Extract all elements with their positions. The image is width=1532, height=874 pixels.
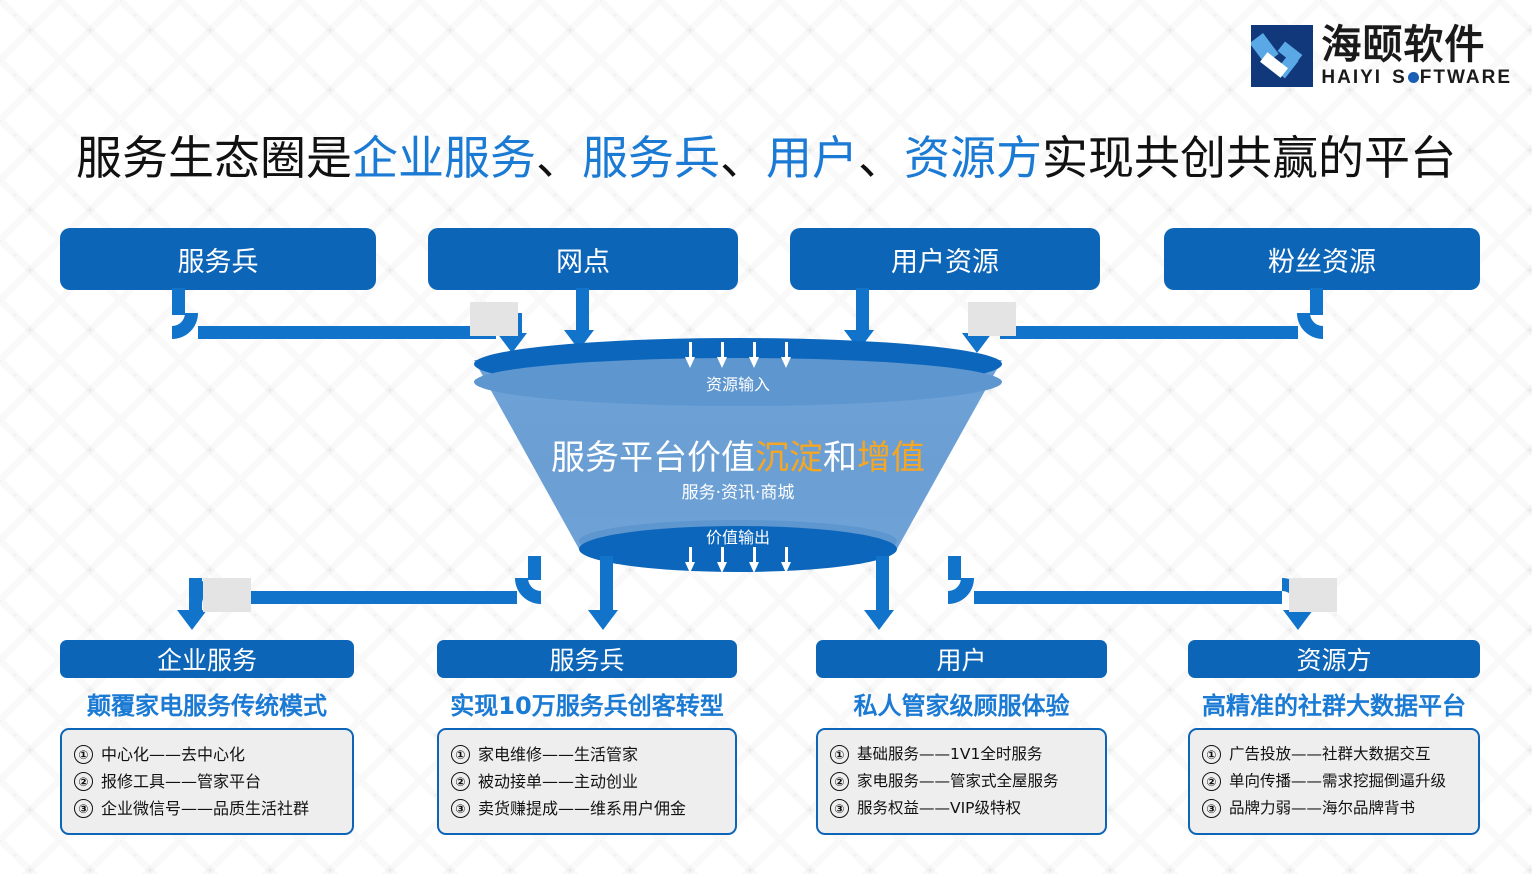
outcome-column-user: 用户 私人管家级顾服体验 ①基础服务——1V1全时服务 ②家电服务——管家式全屋…: [816, 640, 1107, 835]
item-number-icon: ③: [1202, 799, 1221, 818]
connector-tab-icon: [968, 302, 1016, 336]
column-item-list: ①基础服务——1V1全时服务 ②家电服务——管家式全屋服务 ③服务权益——VIP…: [816, 728, 1107, 835]
item-number-icon: ③: [451, 799, 470, 818]
funnel-main-gold-1: 沉淀: [755, 438, 823, 478]
funnel-input-arrows-icon: [474, 342, 1002, 368]
outcome-column-service-soldier: 服务兵 实现10万服务兵创客转型 ①家电维修——生活管家 ②被动接单——主动创业…: [437, 640, 737, 835]
title-highlight-2: 服务兵: [582, 131, 720, 185]
connector-tab-icon: [470, 302, 518, 336]
item-text: 家电服务——管家式全屋服务: [857, 774, 1059, 790]
title-highlight-4: 资源方: [904, 131, 1042, 185]
item-text: 卖货赚提成——维系用户佣金: [478, 801, 686, 817]
item-number-icon: ②: [1202, 772, 1221, 791]
item-number-icon: ①: [74, 745, 93, 764]
column-header-label: 资源方: [1296, 641, 1371, 677]
list-item: ②单向传播——需求挖掘倒逼升级: [1202, 768, 1470, 795]
list-item: ①基础服务——1V1全时服务: [830, 741, 1097, 768]
item-text: 被动接单——主动创业: [478, 774, 638, 790]
item-text: 中心化——去中心化: [101, 747, 245, 763]
title-sep-3: 、: [858, 131, 904, 185]
source-box-outlet[interactable]: 网点: [428, 228, 738, 290]
column-item-list: ①中心化——去中心化 ②报修工具——管家平台 ③企业微信号——品质生活社群: [60, 728, 354, 835]
outcome-column-resource-party: 资源方 高精准的社群大数据平台 ①广告投放——社群大数据交互 ②单向传播——需求…: [1188, 640, 1480, 835]
title-sep-2: 、: [720, 131, 766, 185]
item-text: 品牌力弱——海尔品牌背书: [1229, 801, 1415, 817]
list-item: ①中心化——去中心化: [74, 741, 344, 768]
item-text: 单向传播——需求挖掘倒逼升级: [1229, 774, 1446, 790]
item-text: 基础服务——1V1全时服务: [857, 747, 1042, 763]
source-box-label: 网点: [556, 240, 610, 279]
column-header[interactable]: 企业服务: [60, 640, 354, 678]
source-box-user-resource[interactable]: 用户资源: [790, 228, 1100, 290]
column-header-label: 服务兵: [549, 641, 624, 677]
column-header[interactable]: 服务兵: [437, 640, 737, 678]
source-box-label: 用户资源: [891, 240, 999, 279]
title-highlight-1: 企业服务: [352, 131, 536, 185]
item-number-icon: ③: [830, 799, 849, 818]
list-item: ①家电维修——生活管家: [451, 741, 727, 768]
connector-tab-icon: [203, 578, 251, 612]
funnel-main-gold-2: 增值: [857, 438, 925, 478]
item-text: 家电维修——生活管家: [478, 747, 638, 763]
title-part-1: 服务生态圈是: [76, 131, 352, 185]
column-item-list: ①家电维修——生活管家 ②被动接单——主动创业 ③卖货赚提成——维系用户佣金: [437, 728, 737, 835]
logo-en-suffix: FTWARE: [1420, 68, 1512, 87]
list-item: ②家电服务——管家式全屋服务: [830, 768, 1097, 795]
value-funnel: 资源输入 服务平台价值沉淀和增值 服务·资讯·商城 价值输出: [474, 338, 1002, 572]
logo-en-prefix: HAIYI: [1321, 68, 1382, 87]
logo-text: 海颐软件 HAIYI S FTWARE: [1321, 25, 1512, 87]
haiyi-logo-mark-icon: [1251, 25, 1313, 87]
item-number-icon: ①: [830, 745, 849, 764]
brand-logo: 海颐软件 HAIYI S FTWARE: [1251, 25, 1512, 87]
funnel-output-label: 价值输出: [474, 524, 1002, 548]
list-item: ③卖货赚提成——维系用户佣金: [451, 795, 727, 822]
source-box-label: 粉丝资源: [1268, 240, 1376, 279]
column-header[interactable]: 资源方: [1188, 640, 1480, 678]
column-header-label: 用户: [936, 641, 986, 677]
connector-tab-icon: [1289, 578, 1337, 612]
item-text: 企业微信号——品质生活社群: [101, 801, 309, 817]
list-item: ③服务权益——VIP级特权: [830, 795, 1097, 822]
list-item: ③企业微信号——品质生活社群: [74, 795, 344, 822]
item-number-icon: ①: [1202, 745, 1221, 764]
list-item: ①广告投放——社群大数据交互: [1202, 741, 1470, 768]
column-item-list: ①广告投放——社群大数据交互 ②单向传播——需求挖掘倒逼升级 ③品牌力弱——海尔…: [1188, 728, 1480, 835]
item-number-icon: ②: [451, 772, 470, 791]
source-box-fan-resource[interactable]: 粉丝资源: [1164, 228, 1480, 290]
column-header[interactable]: 用户: [816, 640, 1107, 678]
item-number-icon: ①: [451, 745, 470, 764]
title-sep-1: 、: [536, 131, 582, 185]
item-text: 报修工具——管家平台: [101, 774, 261, 790]
logo-o-dot-icon: [1408, 72, 1419, 83]
column-subtitle: 实现10万服务兵创客转型: [437, 686, 737, 721]
item-text: 服务权益——VIP级特权: [857, 801, 1021, 817]
page-title: 服务生态圈是企业服务、服务兵、用户、资源方实现共创共赢的平台: [0, 122, 1532, 188]
source-box-service-soldier[interactable]: 服务兵: [60, 228, 376, 290]
logo-en-s: S: [1392, 68, 1407, 87]
title-part-2: 实现共创共赢的平台: [1042, 131, 1456, 185]
funnel-subtitle: 服务·资讯·商城: [474, 478, 1002, 503]
funnel-main-mid: 和: [823, 438, 857, 478]
list-item: ②被动接单——主动创业: [451, 768, 727, 795]
list-item: ③品牌力弱——海尔品牌背书: [1202, 795, 1470, 822]
column-subtitle: 私人管家级顾服体验: [816, 686, 1107, 721]
title-highlight-3: 用户: [766, 131, 858, 185]
item-number-icon: ②: [830, 772, 849, 791]
list-item: ②报修工具——管家平台: [74, 768, 344, 795]
item-text: 广告投放——社群大数据交互: [1229, 747, 1431, 763]
funnel-main-pre: 服务平台价值: [551, 438, 755, 478]
item-number-icon: ③: [74, 799, 93, 818]
item-number-icon: ②: [74, 772, 93, 791]
logo-english-name: HAIYI S FTWARE: [1321, 68, 1512, 87]
funnel-main-text: 服务平台价值沉淀和增值: [474, 430, 1002, 479]
logo-chinese-name: 海颐软件: [1321, 25, 1512, 65]
source-box-label: 服务兵: [178, 240, 259, 279]
funnel-input-label: 资源输入: [474, 371, 1002, 395]
outcome-column-enterprise-service: 企业服务 颠覆家电服务传统模式 ①中心化——去中心化 ②报修工具——管家平台 ③…: [60, 640, 354, 835]
column-subtitle: 颠覆家电服务传统模式: [60, 686, 354, 721]
funnel-output-arrows-icon: [474, 547, 1002, 573]
column-header-label: 企业服务: [157, 641, 257, 677]
column-subtitle: 高精准的社群大数据平台: [1188, 686, 1480, 721]
